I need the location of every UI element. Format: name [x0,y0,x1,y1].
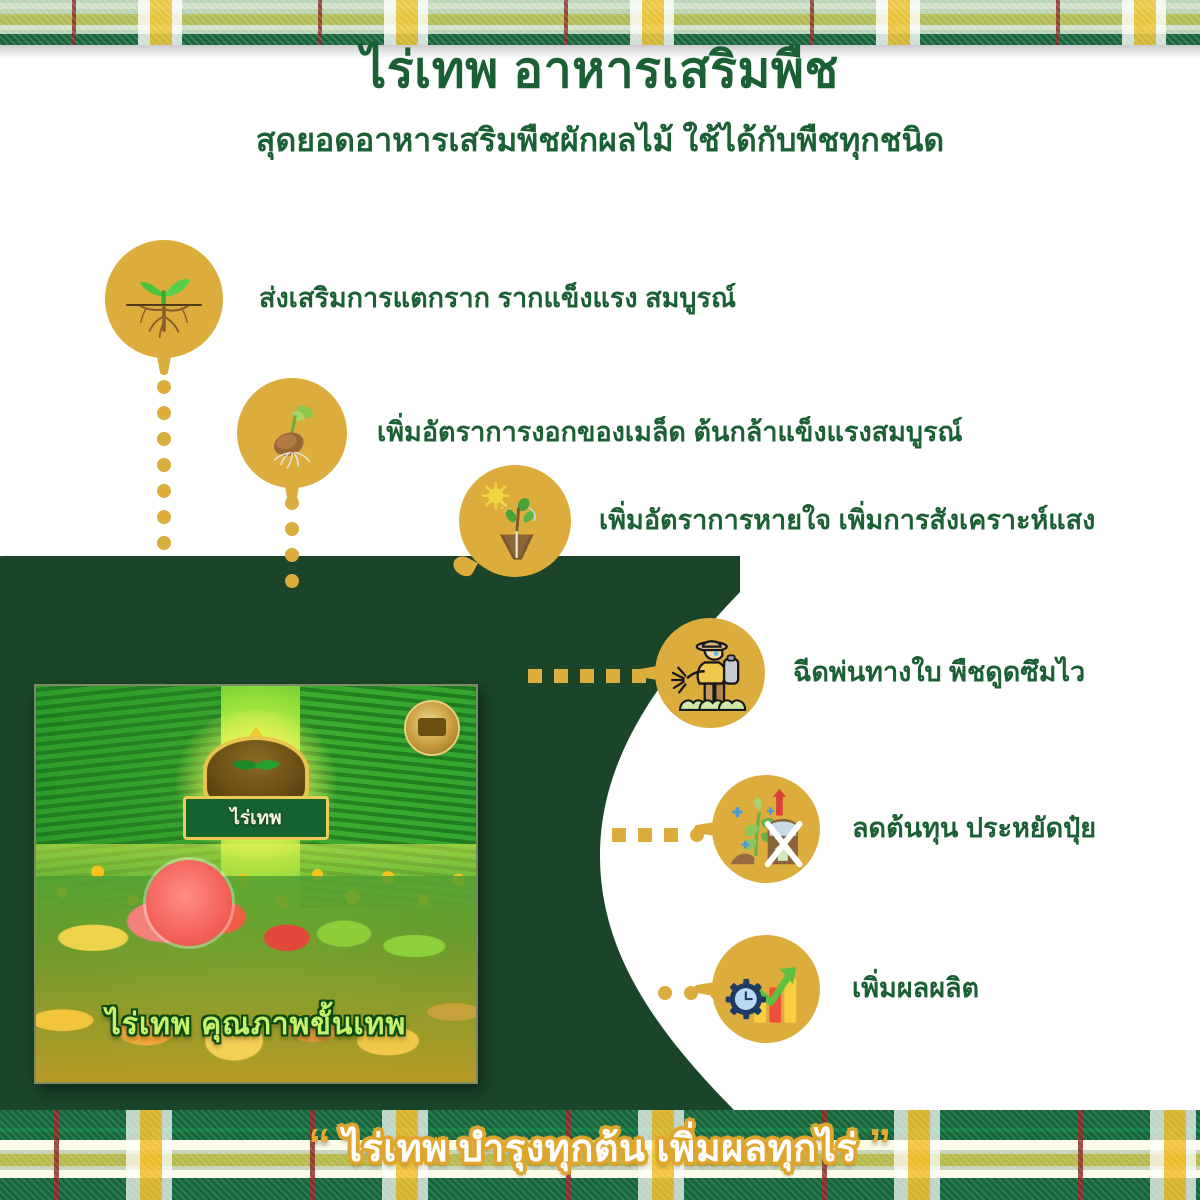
connector-dots-2 [285,496,299,600]
feature-label-3: เพิ่มอัตราการหายใจ เพิ่มการสังเคราะห์แสง [599,506,1095,536]
page-subtitle: สุดยอดอาหารเสริมพืชผักผลไม้ ใช้ได้กับพืช… [0,123,1200,158]
connector-dots-1 [157,380,171,562]
slogan-text: ไร่เทพ บำรุงทุกต้น เพิ่มผลทุกไร่ [343,1128,858,1170]
header: ไร่เทพ อาหารเสริมพืช สุดยอดอาหารเสริมพืช… [0,44,1200,158]
feature-item-6[interactable]: เพิ่มผลผลิต [712,935,979,1043]
product-brand-name: ไร่เทพ [183,796,329,840]
seedling-roots-icon [105,240,223,358]
feature-label-2: เพิ่มอัตราการงอกของเมล็ด ต้นกล้าแข็งแรงส… [377,418,963,448]
open-quote: “ [308,1119,332,1171]
no-fertilizer-plant-icon [712,775,820,883]
feature-item-3[interactable]: เพิ่มอัตราการหายใจ เพิ่มการสังเคราะห์แสง [459,465,1095,577]
product-box-image: ไร่เทพ ไร่เทพ คุณภาพขั้นเทพ [34,684,478,1084]
poster-canvas: ไร่เทพ อาหารเสริมพืช สุดยอดอาหารเสริมพืช… [0,0,1200,1200]
bottom-slogan: “ ไร่เทพ บำรุงทุกต้น เพิ่มผลทุกไร่ ” [0,1117,1200,1178]
feature-item-4[interactable]: ฉีดพ่นทางใบ พืชดูดซึมไว [655,618,1085,728]
certification-seal-icon [404,700,460,756]
top-plaid-border [0,0,1200,45]
growth-chart-clock-icon [712,935,820,1043]
product-logo: ไร่เทพ [182,734,330,844]
farmer-spraying-icon [655,618,765,728]
sprouting-seed-icon [237,378,347,488]
close-quote: ” [868,1119,892,1171]
product-tagline: ไร่เทพ คุณภาพขั้นเทพ [36,1001,476,1048]
feature-label-4: ฉีดพ่นทางใบ พืชดูดซึมไว [793,658,1085,688]
feature-label-6: เพิ่มผลผลิต [852,974,979,1004]
feature-item-5[interactable]: ลดต้นทุน ประหยัดปุ๋ย [712,775,1096,883]
photosynthesis-sun-plant-icon [459,465,571,577]
page-title: ไร่เทพ อาหารเสริมพืช [0,44,1200,97]
feature-item-1[interactable]: ส่งเสริมการแตกราก รากแข็งแรง สมบูรณ์ [105,240,736,358]
feature-label-5: ลดต้นทุน ประหยัดปุ๋ย [852,814,1096,844]
feature-label-1: ส่งเสริมการแตกราก รากแข็งแรง สมบูรณ์ [259,284,736,314]
